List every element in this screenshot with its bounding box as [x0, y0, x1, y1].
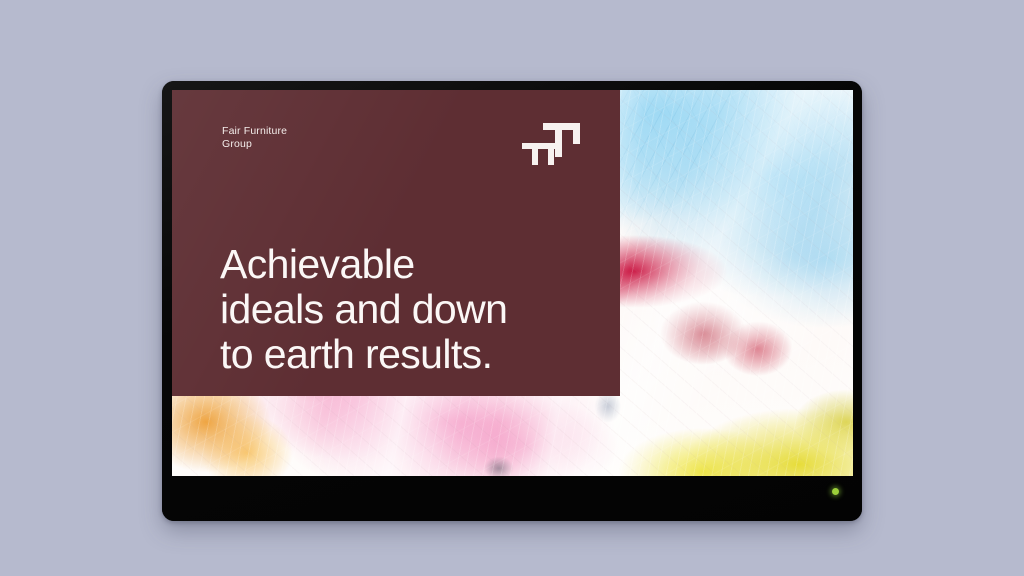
- furniture-table-mark-icon: [522, 117, 582, 169]
- scene-backdrop: Fair Furniture Group: [0, 0, 1024, 576]
- brand-lockup: Fair Furniture Group: [222, 125, 287, 150]
- monitor-screen[interactable]: Fair Furniture Group: [172, 90, 853, 476]
- slide-panel: Fair Furniture Group: [172, 90, 620, 396]
- brand-name: Fair Furniture Group: [222, 125, 287, 150]
- power-indicator-led[interactable]: [832, 488, 839, 495]
- monitor: Fair Furniture Group: [162, 81, 862, 521]
- slide-headline: Achievable ideals and down to earth resu…: [220, 242, 586, 377]
